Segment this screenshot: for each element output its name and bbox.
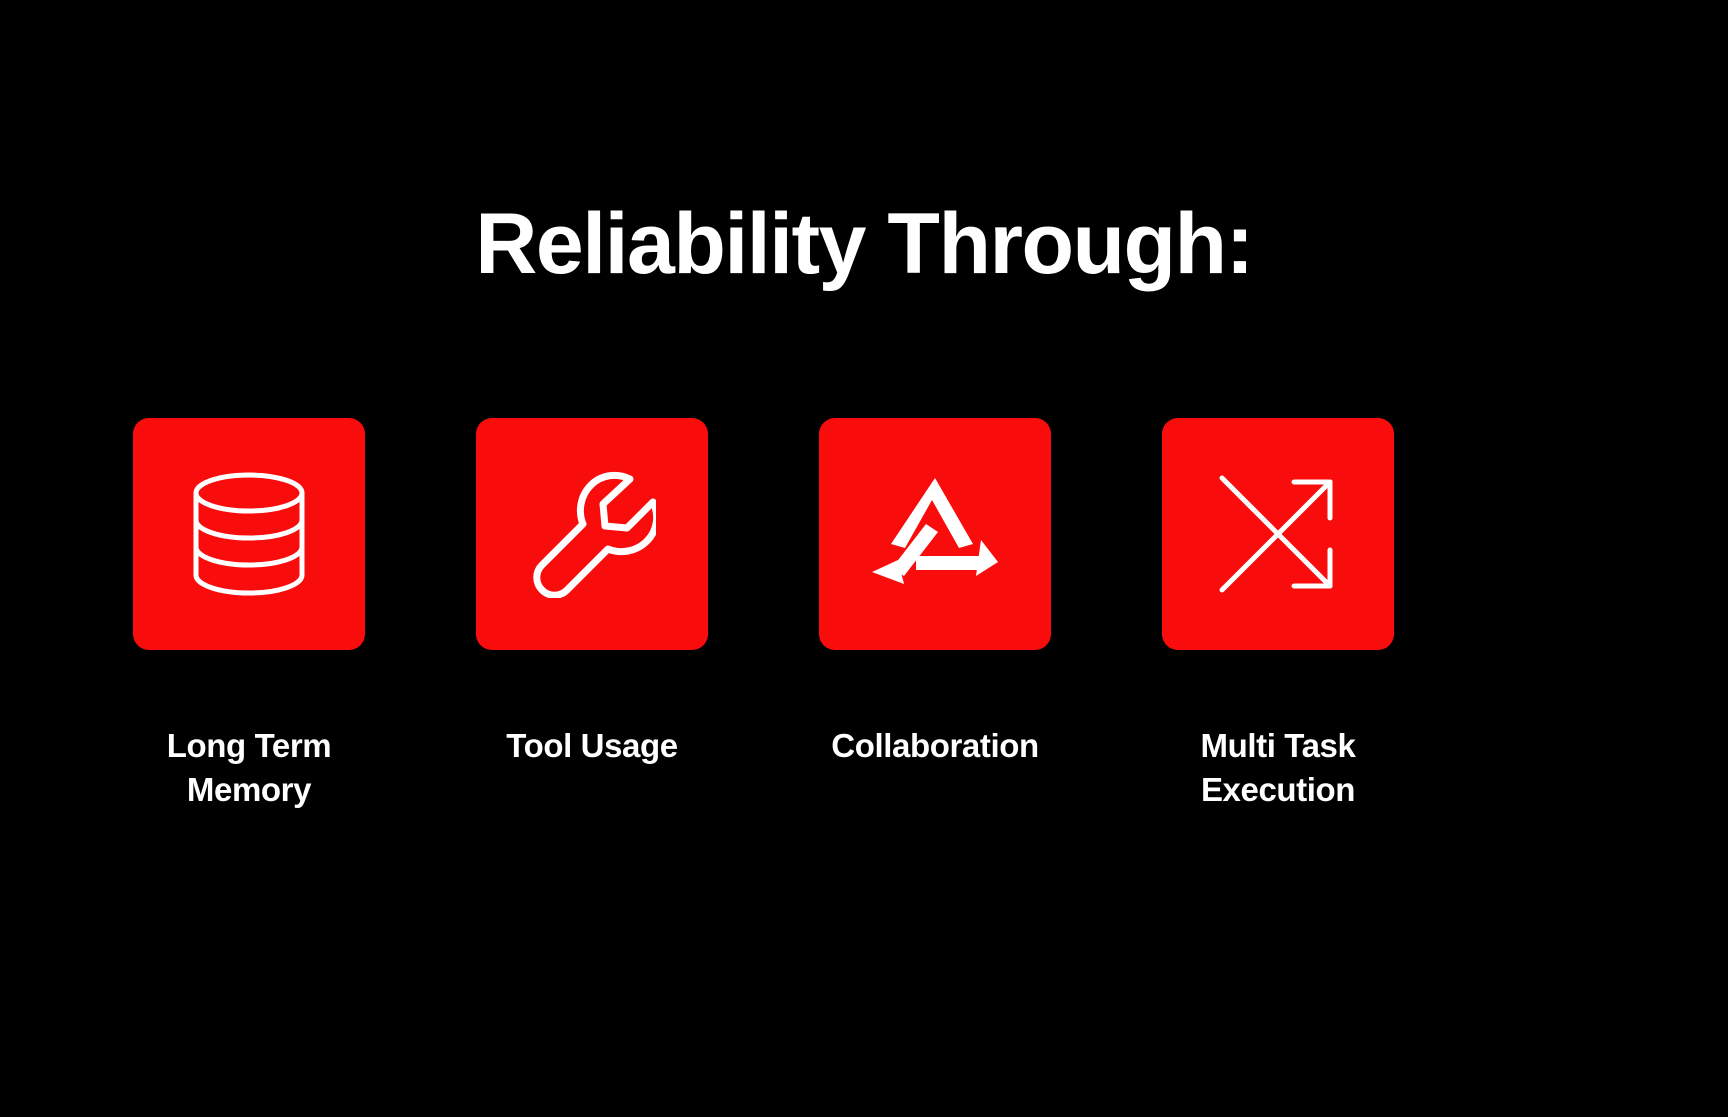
feature-card-long-term-memory[interactable]: Long Term Memory [133,418,365,812]
wrench-icon [528,470,656,598]
slide-root: Reliability Through: Long Term Memory [0,0,1728,1117]
icon-tile[interactable] [1162,418,1394,650]
database-icon [190,471,308,597]
feature-card-tool-usage[interactable]: Tool Usage [476,418,708,812]
feature-card-label: Multi Task Execution [1201,724,1356,812]
recycle-triangle-arrows-icon [870,472,1000,596]
feature-card-collaboration[interactable]: Collaboration [819,418,1051,812]
feature-card-label: Tool Usage [506,724,677,768]
shuffle-arrows-icon [1216,472,1340,596]
feature-card-multi-task-execution[interactable]: Multi Task Execution [1162,418,1394,812]
feature-card-row: Long Term Memory Tool Usage [133,418,1423,812]
icon-tile[interactable] [476,418,708,650]
feature-card-label: Collaboration [831,724,1038,768]
icon-tile[interactable] [819,418,1051,650]
feature-card-label: Long Term Memory [167,724,331,812]
icon-tile[interactable] [133,418,365,650]
page-title: Reliability Through: [0,196,1728,292]
